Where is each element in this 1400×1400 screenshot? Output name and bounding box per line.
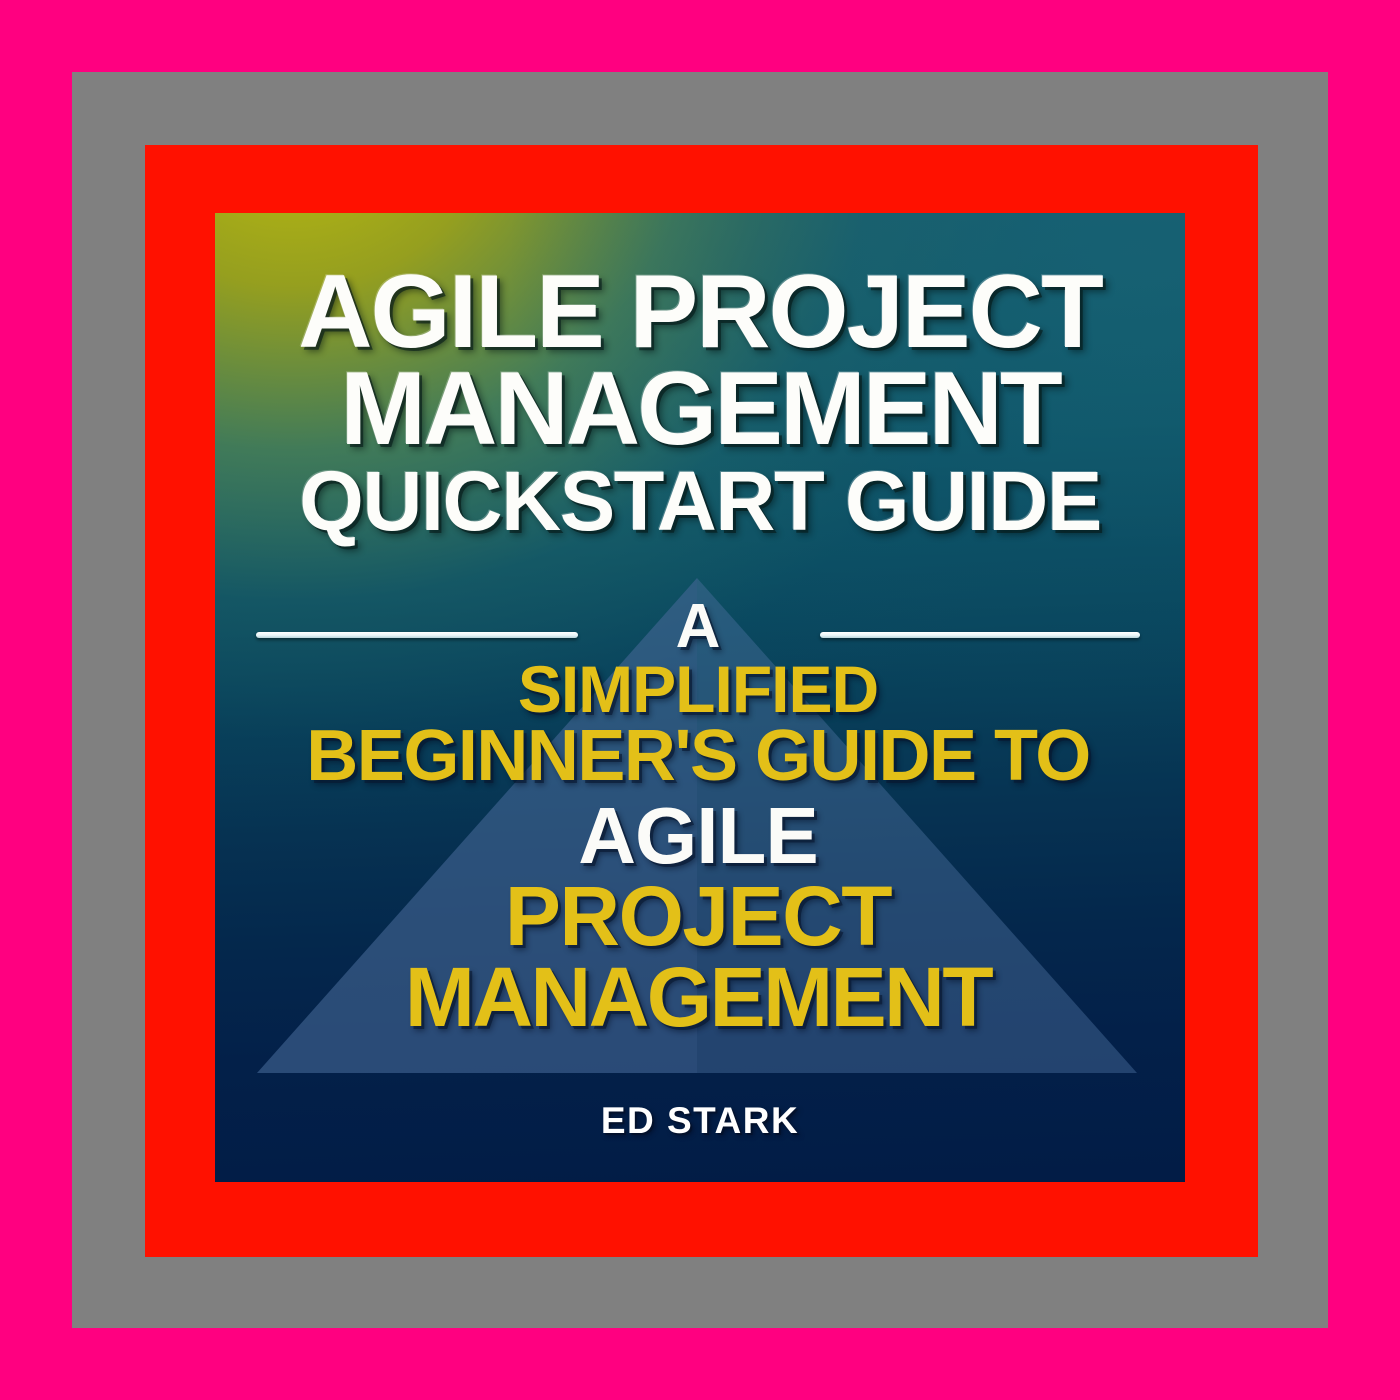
- subtitle-simplified: SIMPLIFIED: [243, 658, 1153, 721]
- subtitle-article: A: [243, 595, 1153, 658]
- subtitle-project: PROJECT: [243, 876, 1153, 957]
- cover-subtitle: A SIMPLIFIED BEGINNER'S GUIDE TO AGILE P…: [243, 595, 1153, 1038]
- book-cover-image: AGILE PROJECT MANAGEMENT QUICKSTART GUID…: [0, 0, 1400, 1400]
- title-line-2: MANAGEMENT: [250, 361, 1151, 459]
- title-line-1: AGILE PROJECT: [250, 265, 1151, 361]
- subtitle-agile: AGILE: [243, 795, 1153, 877]
- author-name: ED STARK: [215, 1100, 1185, 1142]
- cover-title: AGILE PROJECT MANAGEMENT QUICKSTART GUID…: [245, 265, 1155, 543]
- title-line-3: QUICKSTART GUIDE: [250, 460, 1151, 542]
- subtitle-beginners-guide-to: BEGINNER'S GUIDE TO: [243, 722, 1153, 791]
- cover-artwork: AGILE PROJECT MANAGEMENT QUICKSTART GUID…: [215, 213, 1185, 1182]
- subtitle-management: MANAGEMENT: [243, 957, 1153, 1038]
